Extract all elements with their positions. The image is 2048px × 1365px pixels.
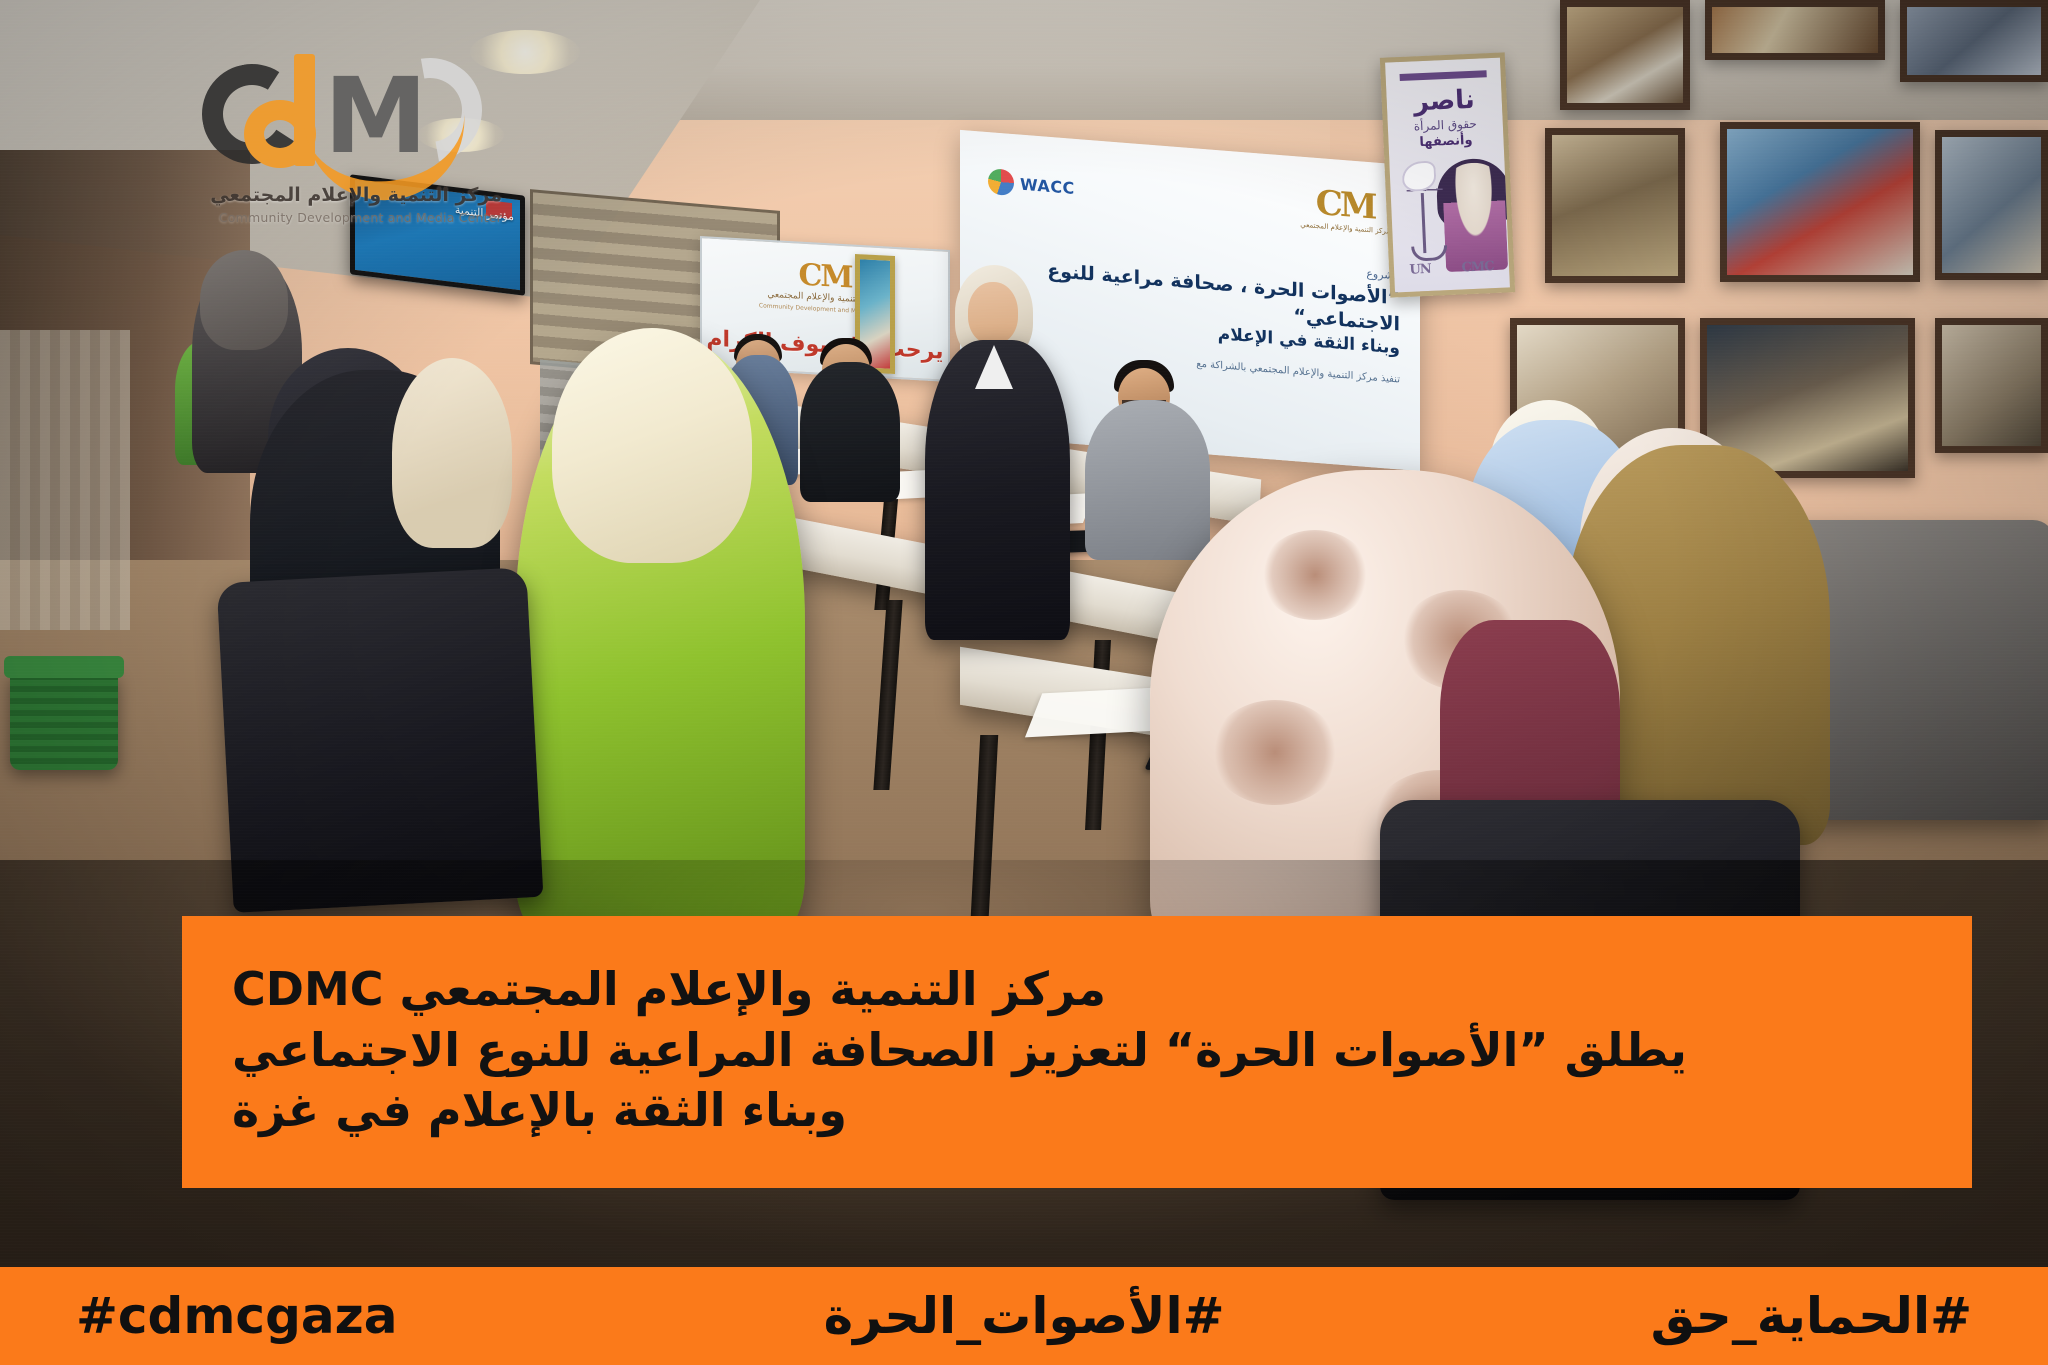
poster-title: ناصر [1386,84,1502,119]
hashtag-free-voices[interactable]: #الأصوات_الحرة [824,1287,1225,1345]
wall-frame-1 [1560,0,1690,110]
wall-frame-6 [1935,130,2048,280]
scarf-pattern-dot-3 [1210,700,1340,805]
wall-frame-4 [1545,128,1685,283]
radiator [0,330,130,630]
hashtag-bar: #cdmcgaza #الأصوات_الحرة #الحماية_حق [0,1267,2048,1365]
hashtag-protection-is-a-right[interactable]: #الحماية_حق [1651,1287,1972,1345]
scales-of-justice-icon [1406,182,1445,261]
poster-line-2: وأنصفها [1388,132,1504,152]
ceiling-light-1 [470,30,580,74]
globe-icon [988,168,1014,196]
attendee-man-3 [1085,400,1210,560]
speaker-face [968,282,1018,344]
poster-figure [1442,162,1509,273]
attendee-man-2 [800,362,900,502]
womens-rights-poster: ناصر حقوق المرأة وأنصفها UN CMC [1380,52,1515,297]
wall-frame-5 [1720,122,1920,282]
hashtag-cdmcgaza[interactable]: #cdmcgaza [76,1287,397,1345]
scarf-pattern-dot-1 [1260,530,1370,620]
caption-line-1: مركز التنمية والإعلام المجتمعي CDMC [232,959,1106,1020]
wall-mounted-tv: مؤتمر التنمية [350,174,525,295]
attendee-beige [392,358,512,548]
partner-logo-text: WACC [1020,174,1075,197]
caption-line-3: وبناء الثقة بالإعلام في غزة [232,1080,847,1141]
welcome-board-logo: CM [798,258,851,296]
attendee-green-scarf [552,328,752,563]
organizer-logo: CM مركز التنمية والإعلام المجتمعي [1300,185,1390,236]
caption-banner: مركز التنمية والإعلام المجتمعي CDMC يطلق… [182,916,1972,1188]
attendee-far-left-scarf [200,250,288,350]
poster-top-bar [1400,70,1487,81]
waste-basket [10,672,118,770]
partner-logo-wacc: WACC [988,168,1075,201]
caption-line-2: يطلق ”الأصوات الحرة“ لتعزيز الصحافة المر… [232,1020,1687,1081]
poster-logo-right: CMC [1461,259,1494,275]
organizer-logo-glyph: CM [1300,185,1390,226]
ceiling-light-2 [418,118,504,152]
poster-logo-left: UN [1409,262,1431,278]
wall-frame-9 [1935,318,2048,453]
screenshot-root: مؤتمر التنمية CM مركز التنمية والإعلام ا… [0,0,2048,1365]
wall-frame-3 [1900,0,2048,82]
wall-frame-2 [1705,0,1885,60]
